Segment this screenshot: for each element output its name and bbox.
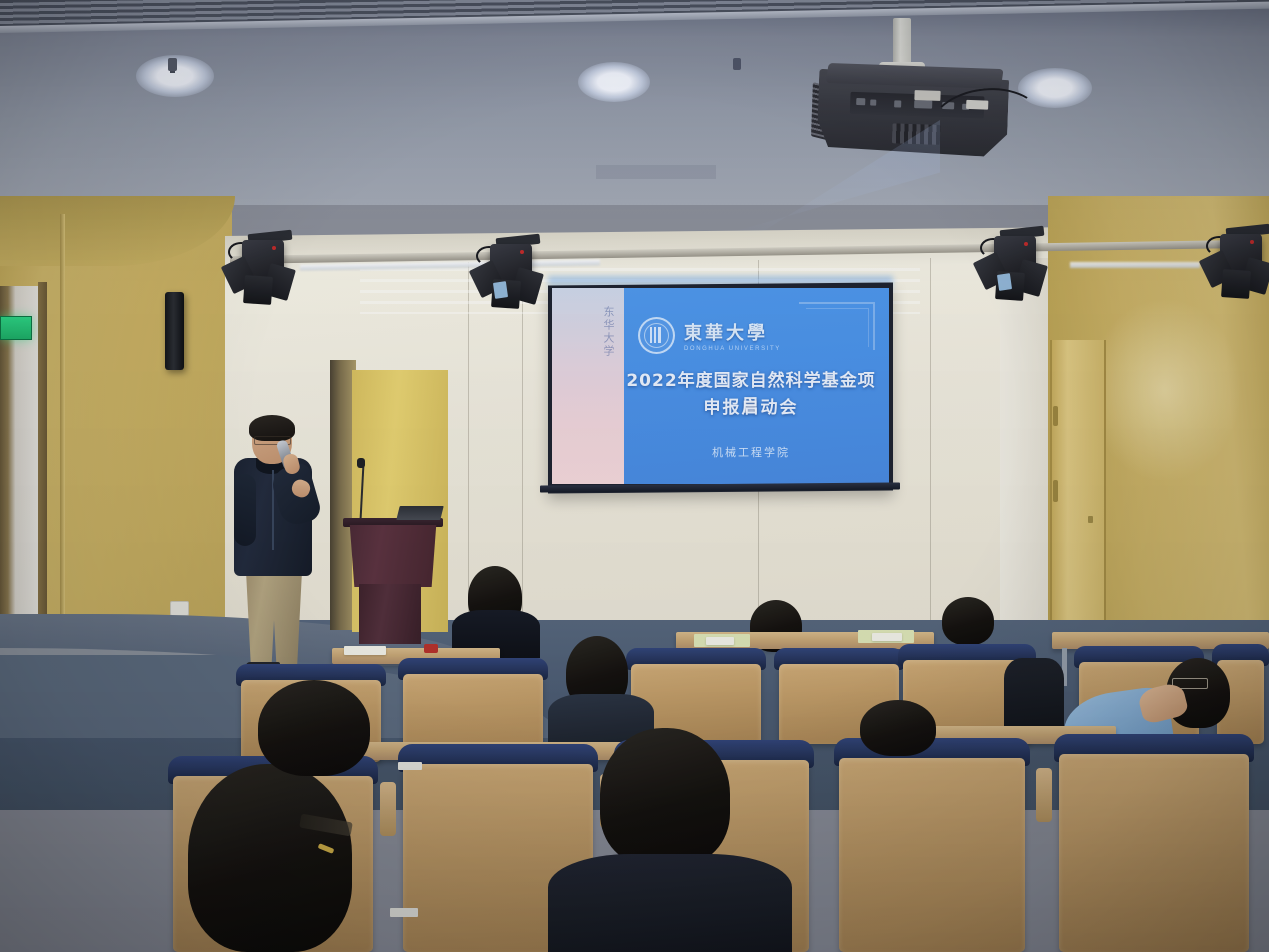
presenter-left-arm [234, 474, 256, 546]
sprinkler-icon [168, 58, 177, 71]
stage-light-barndoor [243, 275, 273, 305]
seat[interactable] [398, 658, 548, 754]
right-wall-light-glow [1090, 300, 1240, 480]
stage-light-indicator-icon [520, 250, 524, 254]
lecture-hall-photo: 东华大学 東華大學 DONGHUA UNIVERSITY 2022年度国家自然科… [0, 0, 1269, 952]
armrest [380, 782, 396, 836]
presenter [228, 418, 324, 666]
stage-light-indicator-icon [1250, 240, 1254, 244]
presenter-legs [242, 568, 306, 668]
emergency-exit-sign [0, 316, 32, 340]
audience-member-right [942, 597, 994, 645]
projector-label [914, 90, 940, 101]
ceiling-projector [816, 59, 1009, 162]
wall-seam [930, 258, 931, 658]
seat-number-tag [390, 908, 418, 917]
seat[interactable] [834, 738, 1030, 952]
document-sheet-white [344, 646, 386, 655]
right-wall-panel [1000, 258, 1054, 658]
projector-port [856, 98, 865, 105]
person-shoulders [548, 854, 792, 952]
projector-port [914, 100, 932, 109]
seat-backrest [1059, 754, 1249, 952]
university-logo: 東華大學 DONGHUA UNIVERSITY [638, 314, 868, 356]
stage-light-tape [997, 273, 1012, 291]
lectern-laptop [396, 506, 443, 520]
slide-title-line-2: 申报启动会 [626, 393, 876, 418]
document-sheet [706, 637, 734, 645]
projector-port [894, 100, 901, 107]
stage-light-barndoor [1221, 269, 1251, 299]
university-name-cn: 東華大學 [684, 319, 781, 345]
door-lock-icon[interactable] [1088, 516, 1093, 523]
stage-light-indicator-icon [272, 246, 276, 250]
wall-speaker [165, 292, 184, 370]
truss-light-strip [1070, 262, 1200, 268]
lectern [347, 518, 439, 644]
ceiling-vent [596, 165, 716, 179]
audience-member-mid-right [860, 700, 936, 756]
audience-member-right-shoulders [1004, 658, 1064, 726]
downlight-icon [578, 62, 650, 102]
right-door[interactable] [1050, 340, 1106, 656]
projection-screen: 东华大学 東華大學 DONGHUA UNIVERSITY 2022年度国家自然科… [552, 288, 889, 484]
seat-number-tag [398, 762, 422, 770]
person-head [600, 728, 730, 866]
power-outlet[interactable] [170, 601, 189, 616]
slide-subtitle: 机械工程学院 [626, 444, 876, 460]
lectern-base [359, 584, 421, 644]
seat[interactable] [1054, 734, 1254, 952]
stage-light-tape [493, 281, 508, 299]
person-head [942, 597, 994, 645]
microphone-head-icon [357, 458, 365, 468]
university-name-block: 東華大學 DONGHUA UNIVERSITY [684, 319, 781, 352]
audience-member-mid-center [258, 680, 370, 776]
person-head [860, 700, 936, 756]
wall-seam [522, 262, 523, 662]
ceiling [0, 0, 1269, 205]
university-seal-icon [638, 317, 675, 354]
left-door-frame [38, 282, 47, 666]
audience-member-foreground-center [600, 728, 730, 866]
audience-member-foreground-glasses [188, 764, 352, 952]
armrest [1036, 768, 1052, 822]
stage-light-indicator-icon [1024, 242, 1028, 246]
person-head [258, 680, 370, 776]
left-wall-corner [60, 214, 65, 664]
door-handle-icon[interactable] [1053, 480, 1058, 502]
door-handle-icon[interactable] [1053, 406, 1058, 426]
screen-side-panel: 东华大学 [552, 288, 624, 484]
university-name-en: DONGHUA UNIVERSITY [684, 346, 781, 352]
screen-side-panel-text: 东华大学 [562, 306, 616, 426]
desk-item-red [424, 644, 438, 653]
person-head [188, 764, 352, 952]
projector-port [870, 100, 876, 106]
document-sheet [872, 633, 902, 641]
sprinkler-icon [733, 58, 741, 70]
seat-backrest [839, 758, 1025, 952]
lectern-front-panel [347, 525, 439, 587]
